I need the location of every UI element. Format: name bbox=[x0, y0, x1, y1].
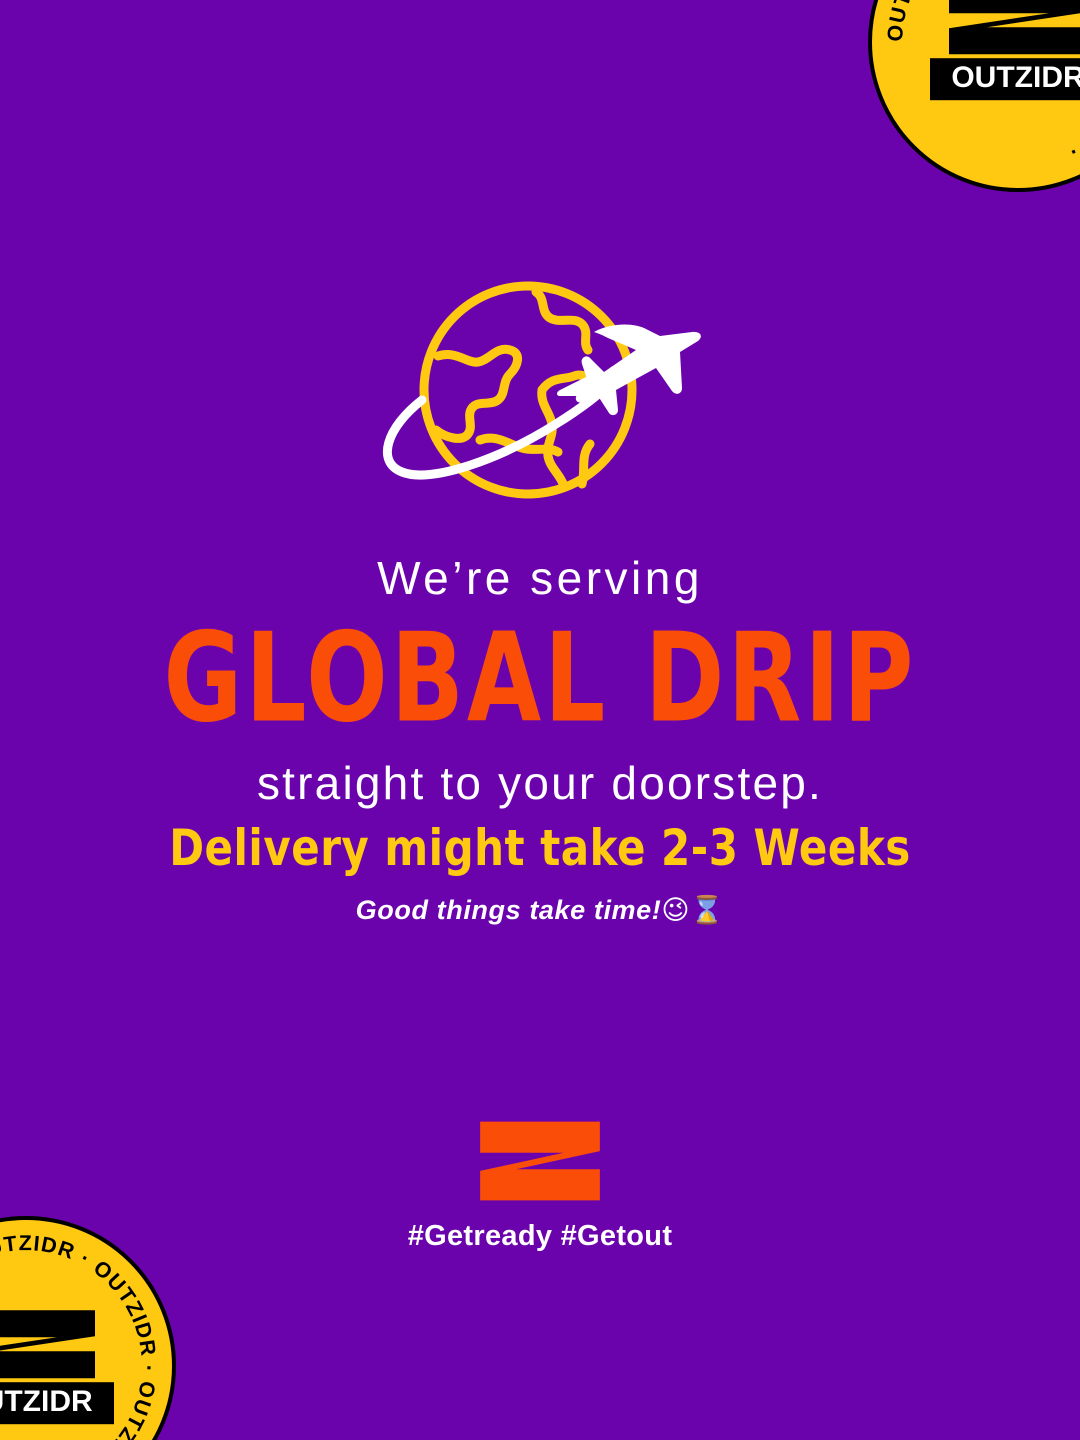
globe-airplane-icon bbox=[360, 272, 720, 508]
poster-canvas: OUTZIDR · OUTZIDR · OUTZIDR · OUTZIDR · … bbox=[0, 0, 1080, 1440]
page-title: GLOBAL DRIP bbox=[0, 617, 1080, 740]
outzidr-z-logo-icon bbox=[943, 0, 1080, 56]
wink-face-icon: 😉 bbox=[661, 895, 690, 926]
stamp-core-top-right: OUTZIDR bbox=[930, 0, 1080, 100]
delivery-estimate-text: Delivery might take 2-3 Weeks bbox=[0, 820, 1080, 877]
subline-text: straight to your doorstep. bbox=[0, 757, 1080, 810]
kicker-text: We’re serving bbox=[0, 552, 1080, 605]
stamp-core-wordmark: OUTZIDR bbox=[930, 58, 1080, 100]
delivery-note-text: Good things take time!😉⌛ bbox=[0, 894, 1080, 927]
stamp-badge-bottom-left: OUTZIDR · OUTZIDR · OUTZIDR · OUTZIDR · … bbox=[0, 1216, 176, 1440]
delivery-note-label: Good things take time! bbox=[356, 895, 662, 925]
headline-block: We’re serving GLOBAL DRIP straight to yo… bbox=[0, 552, 1080, 811]
outzidr-z-logo-icon bbox=[0, 1308, 101, 1380]
delivery-info-block: Delivery might take 2-3 Weeks Good thing… bbox=[0, 820, 1080, 928]
stamp-badge-top-right: OUTZIDR · OUTZIDR · OUTZIDR · OUTZIDR · … bbox=[868, 0, 1080, 192]
stamp-core-wordmark: OUTZIDR bbox=[0, 1382, 114, 1424]
stamp-core-bottom-left: OUTZIDR bbox=[0, 1308, 114, 1424]
outzidr-z-logo-icon bbox=[478, 1120, 602, 1202]
hourglass-icon: ⌛ bbox=[690, 895, 724, 926]
